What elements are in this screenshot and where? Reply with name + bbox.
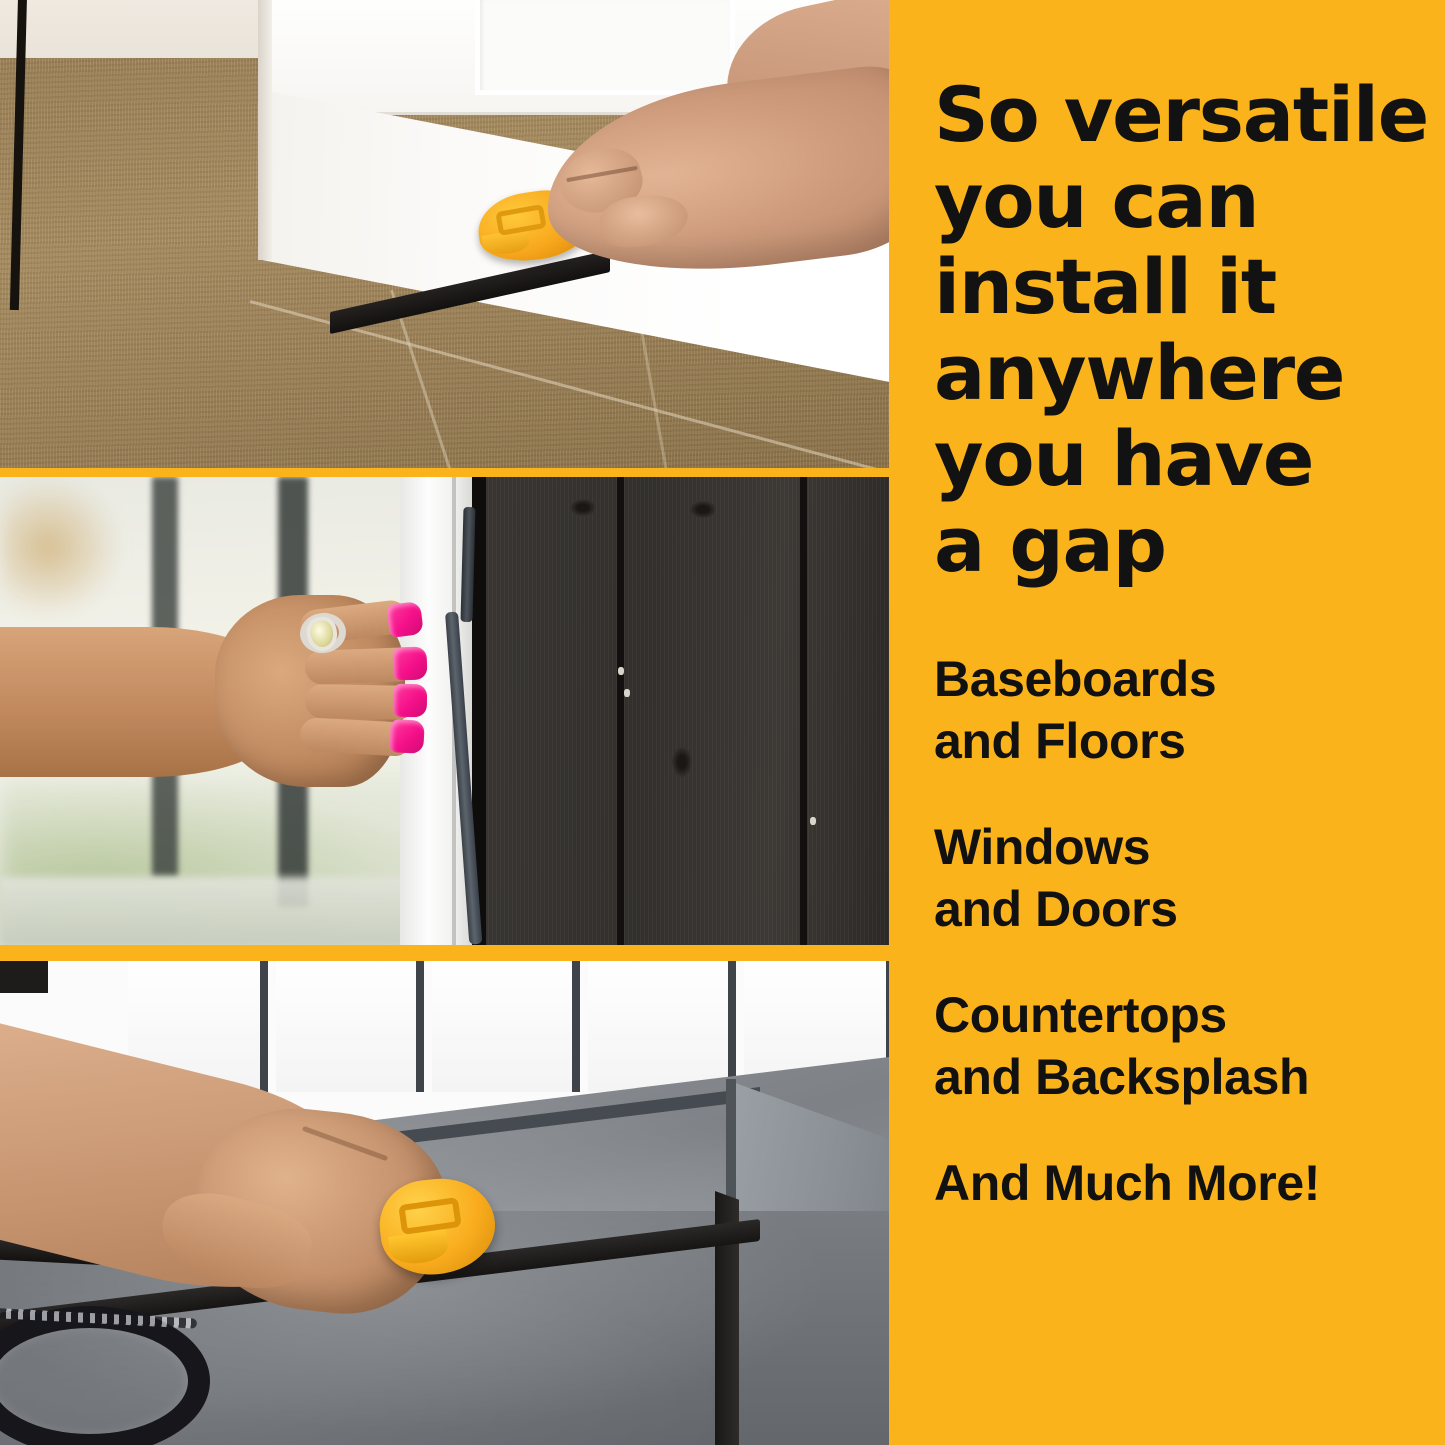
wood-knot bbox=[672, 747, 692, 777]
benefit-item-baseboards-and-floors: Baseboards and Floors bbox=[934, 648, 1444, 772]
wall-panel-molding bbox=[475, 0, 735, 95]
headline-line: So versatile bbox=[934, 72, 1434, 158]
benefits-list: Baseboards and Floors Windows and Doors … bbox=[934, 648, 1444, 1214]
headline-line: install it bbox=[934, 244, 1434, 330]
wood-knot bbox=[570, 499, 596, 516]
fingernail bbox=[392, 646, 427, 680]
benefit-line: And Much More! bbox=[934, 1152, 1444, 1214]
photo-window bbox=[0, 477, 889, 945]
benefit-line: and Backsplash bbox=[934, 1046, 1444, 1108]
panel-divider bbox=[0, 468, 889, 477]
headline-line: anywhere bbox=[934, 330, 1434, 416]
benefit-item-countertops-and-backsplash: Countertops and Backsplash bbox=[934, 984, 1444, 1108]
wood-knot bbox=[690, 501, 716, 518]
benefit-item-windows-and-doors: Windows and Doors bbox=[934, 816, 1444, 940]
photo-column bbox=[0, 0, 889, 1445]
paint-fleck bbox=[810, 817, 816, 825]
photo-countertop bbox=[0, 961, 889, 1445]
headline-line: a gap bbox=[934, 502, 1434, 588]
blurred-light bbox=[0, 477, 120, 617]
fingernail bbox=[386, 601, 424, 638]
backsplash-tile bbox=[432, 961, 580, 1092]
headline-line: you can bbox=[934, 158, 1434, 244]
benefit-line: and Floors bbox=[934, 710, 1444, 772]
backsplash-tile bbox=[588, 961, 736, 1092]
promo-image-root: So versatile you can install it anywhere… bbox=[0, 0, 1445, 1445]
headline: So versatile you can install it anywhere… bbox=[934, 72, 1434, 588]
fingernail bbox=[389, 719, 425, 754]
siding-seam bbox=[617, 477, 624, 945]
paint-fleck bbox=[618, 667, 624, 675]
benefit-line: Windows bbox=[934, 816, 1444, 878]
baseboard-corner-edge bbox=[258, 0, 272, 260]
headline-line: you have bbox=[934, 416, 1434, 502]
photo-baseboard bbox=[0, 0, 889, 468]
benefit-line: Countertops bbox=[934, 984, 1444, 1046]
text-column: So versatile you can install it anywhere… bbox=[889, 0, 1445, 1445]
paint-fleck bbox=[624, 689, 630, 697]
benefit-line: Baseboards bbox=[934, 648, 1444, 710]
panel-divider bbox=[0, 945, 889, 954]
siding-seam bbox=[800, 477, 807, 945]
backsplash-tile bbox=[276, 961, 424, 1092]
benefit-item-and-much-more: And Much More! bbox=[934, 1152, 1444, 1214]
fingernail bbox=[393, 684, 428, 718]
benefit-line: and Doors bbox=[934, 878, 1444, 940]
wood-siding bbox=[480, 477, 889, 945]
dark-fixture bbox=[0, 961, 48, 993]
